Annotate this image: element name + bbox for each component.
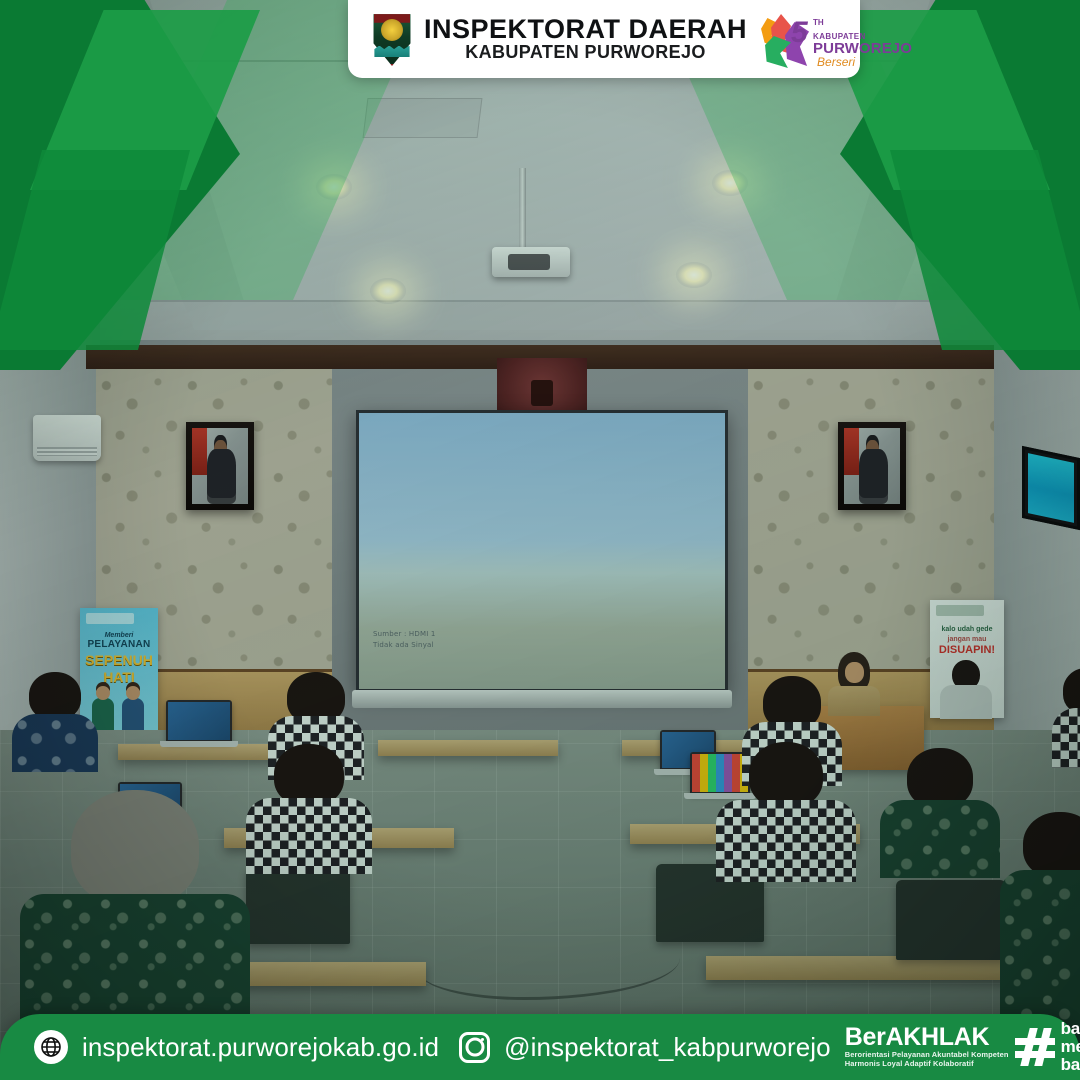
purworejo-regency-crest-icon [370, 12, 414, 66]
purworejo-berseri-anniversary-logo: 5 TH KABUPATEN PURWOREJO Berseri [757, 8, 873, 70]
website-url[interactable]: inspektorat.purworejokab.go.id [82, 1032, 439, 1063]
anniversary-ordinal: TH [813, 18, 824, 27]
instagram-handle[interactable]: @inspektorat_kabpurworejo [504, 1032, 831, 1063]
photo-vignette [0, 0, 1080, 1080]
header-bar: INSPEKTORAT DAERAH KABUPATEN PURWOREJO 5… [348, 0, 860, 78]
berakhlak-title: BerAKHLAK [845, 1025, 1009, 1050]
globe-icon [34, 1030, 68, 1064]
page-subtitle: KABUPATEN PURWOREJO [424, 43, 747, 63]
slogan-line1: bangga [1061, 1020, 1080, 1038]
meeting-room-photo: Sumber : HDMI 1 Tidak ada Sinyal Memberi… [0, 0, 1080, 1080]
hashtag-icon [1015, 1028, 1055, 1066]
anniversary-number: 5 [791, 18, 808, 48]
page-title: INSPEKTORAT DAERAH [424, 15, 747, 43]
instagram-icon [459, 1032, 490, 1063]
bangga-melayani-bangsa-slogan: bangga melayani bangsa [1061, 1020, 1080, 1073]
anniversary-line3: Berseri [817, 55, 855, 69]
slogan-line3: bangsa [1061, 1056, 1080, 1074]
berakhlak-logo: BerAKHLAK Berorientasi Pelayanan Akuntab… [845, 1020, 1080, 1073]
berakhlak-tagline-line2: Harmonis Loyal Adaptif Kolaboratif [845, 1059, 1009, 1068]
slogan-line2: melayani [1061, 1038, 1080, 1056]
header-titles: INSPEKTORAT DAERAH KABUPATEN PURWOREJO [424, 15, 747, 63]
footer-bar: inspektorat.purworejokab.go.id @inspekto… [0, 1014, 1080, 1080]
berakhlak-tagline-line1: Berorientasi Pelayanan Akuntabel Kompete… [845, 1050, 1009, 1059]
social-media-poster: Sumber : HDMI 1 Tidak ada Sinyal Memberi… [0, 0, 1080, 1080]
